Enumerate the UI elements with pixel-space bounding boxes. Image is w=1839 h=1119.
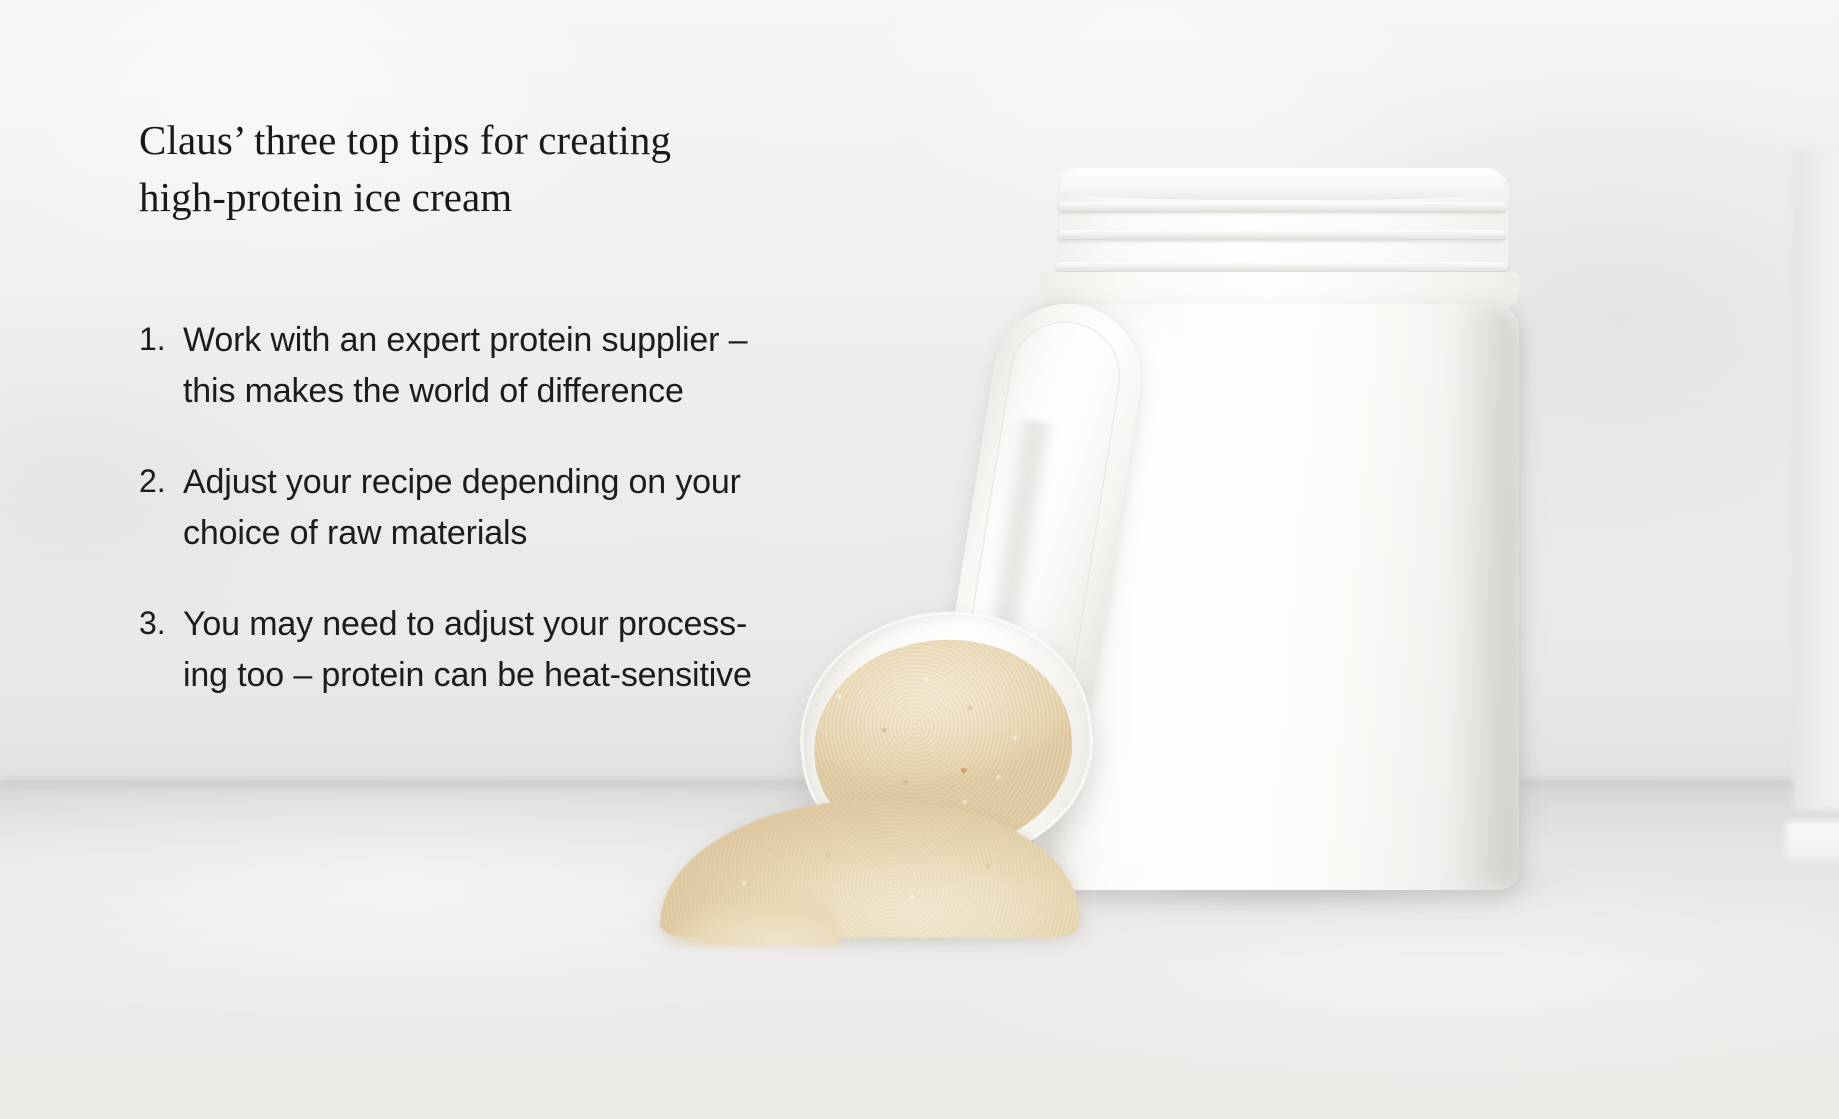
slide-canvas: Claus’ three top tips for creating high-… [0,0,1839,1119]
photo-grain [0,0,1839,1119]
